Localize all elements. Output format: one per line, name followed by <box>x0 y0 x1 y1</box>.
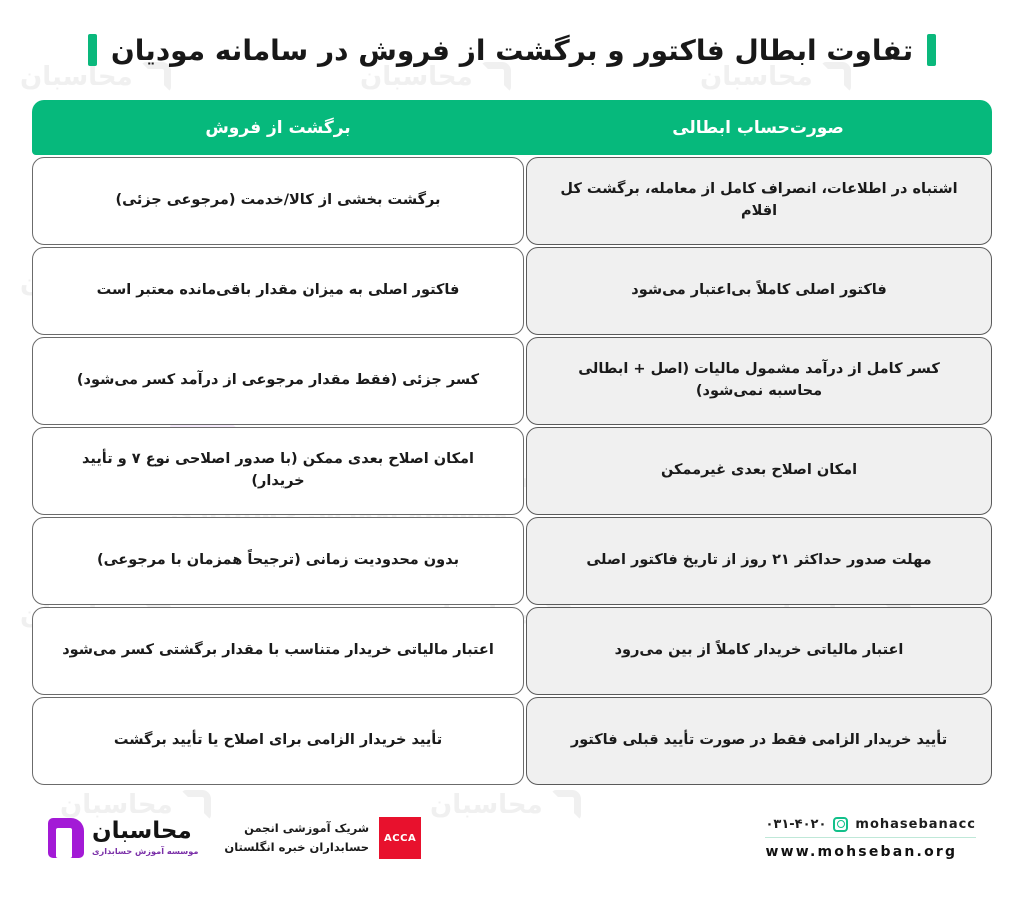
phone-number: ۰۳۱-۴۰۲۰ <box>765 817 826 832</box>
title-text: تفاوت ابطال فاکتور و برگشت از فروش در سا… <box>111 34 913 67</box>
cell-ebtali: مهلت صدور حداکثر ۲۱ روز از تاریخ فاکتور … <box>526 517 992 605</box>
cell-bargasht: فاکتور اصلی به میزان مقدار باقی‌مانده مع… <box>32 247 524 335</box>
table-row: فاکتور اصلی کاملاً بی‌اعتبار می‌شود فاکت… <box>32 247 992 335</box>
footer-contact: ۰۳۱-۴۰۲۰ mohasebanacc www.mohseban.org <box>765 817 976 860</box>
table-row: اعتبار مالیاتی خریدار کاملاً از بین می‌ر… <box>32 607 992 695</box>
acca-partner-line2: حسابداران خبره انگلستان <box>224 838 369 857</box>
mohaseban-logo: محاسبان موسسه آموزش حسابداری <box>48 818 198 858</box>
cell-bargasht: برگشت بخشی از کالا/خدمت (مرجوعی جزئی) <box>32 157 524 245</box>
cell-ebtali: کسر کامل از درآمد مشمول مالیات (اصل + اب… <box>526 337 992 425</box>
table-row: تأیید خریدار الزامی فقط در صورت تأیید قب… <box>32 697 992 785</box>
cell-bargasht: امکان اصلاح بعدی ممکن (با صدور اصلاحی نو… <box>32 427 524 515</box>
brand-name: محاسبان <box>92 820 192 843</box>
table-row: امکان اصلاح بعدی غیرممکن امکان اصلاح بعد… <box>32 427 992 515</box>
page-footer: ۰۳۱-۴۰۲۰ mohasebanacc www.mohseban.org A… <box>0 802 1024 874</box>
column-header-ebtali: صورت‌حساب ابطالی <box>524 100 992 155</box>
cell-ebtali: اشتباه در اطلاعات، انصراف کامل از معامله… <box>526 157 992 245</box>
cell-ebtali: تأیید خریدار الزامی فقط در صورت تأیید قب… <box>526 697 992 785</box>
table-body: اشتباه در اطلاعات، انصراف کامل از معامله… <box>32 157 992 785</box>
cell-bargasht: اعتبار مالیاتی خریدار متناسب با مقدار بر… <box>32 607 524 695</box>
brand-words: محاسبان موسسه آموزش حسابداری <box>92 820 198 856</box>
title-accent-bar-right <box>927 34 936 66</box>
acca-partner-text: شریک آموزشی انجمن حسابداران خبره انگلستا… <box>224 819 369 857</box>
column-header-bargasht: برگشت از فروش <box>32 100 524 155</box>
table-row: مهلت صدور حداکثر ۲۱ روز از تاریخ فاکتور … <box>32 517 992 605</box>
page-title: تفاوت ابطال فاکتور و برگشت از فروش در سا… <box>0 0 1024 100</box>
instagram-icon[interactable] <box>833 817 848 832</box>
table-row: اشتباه در اطلاعات، انصراف کامل از معامله… <box>32 157 992 245</box>
acca-partner-line1: شریک آموزشی انجمن <box>224 819 369 838</box>
comparison-table: صورت‌حساب ابطالی برگشت از فروش اشتباه در… <box>32 100 992 785</box>
acca-mark-icon: ACCA <box>379 817 421 859</box>
acca-partner-logo: ACCA شریک آموزشی انجمن حسابداران خبره ان… <box>224 817 421 859</box>
title-accent-bar-left <box>88 34 97 66</box>
cell-bargasht: بدون محدودیت زمانی (ترجیحاً همزمان با مر… <box>32 517 524 605</box>
footer-logos: ACCA شریک آموزشی انجمن حسابداران خبره ان… <box>48 817 421 859</box>
instagram-handle[interactable]: mohasebanacc <box>855 817 976 832</box>
table-header-row: صورت‌حساب ابطالی برگشت از فروش <box>32 100 992 155</box>
cell-ebtali: فاکتور اصلی کاملاً بی‌اعتبار می‌شود <box>526 247 992 335</box>
cell-ebtali: اعتبار مالیاتی خریدار کاملاً از بین می‌ر… <box>526 607 992 695</box>
mohaseban-mark-icon <box>48 818 84 858</box>
cell-ebtali: امکان اصلاح بعدی غیرممکن <box>526 427 992 515</box>
table-row: کسر کامل از درآمد مشمول مالیات (اصل + اب… <box>32 337 992 425</box>
brand-tagline: موسسه آموزش حسابداری <box>92 846 198 856</box>
infographic-page: تفاوت ابطال فاکتور و برگشت از فروش در سا… <box>0 0 1024 898</box>
cell-bargasht: تأیید خریدار الزامی برای اصلاح یا تأیید … <box>32 697 524 785</box>
contact-line: ۰۳۱-۴۰۲۰ mohasebanacc <box>765 817 976 837</box>
cell-bargasht: کسر جزئی (فقط مقدار مرجوعی از درآمد کسر … <box>32 337 524 425</box>
website-url[interactable]: www.mohseban.org <box>765 837 976 860</box>
